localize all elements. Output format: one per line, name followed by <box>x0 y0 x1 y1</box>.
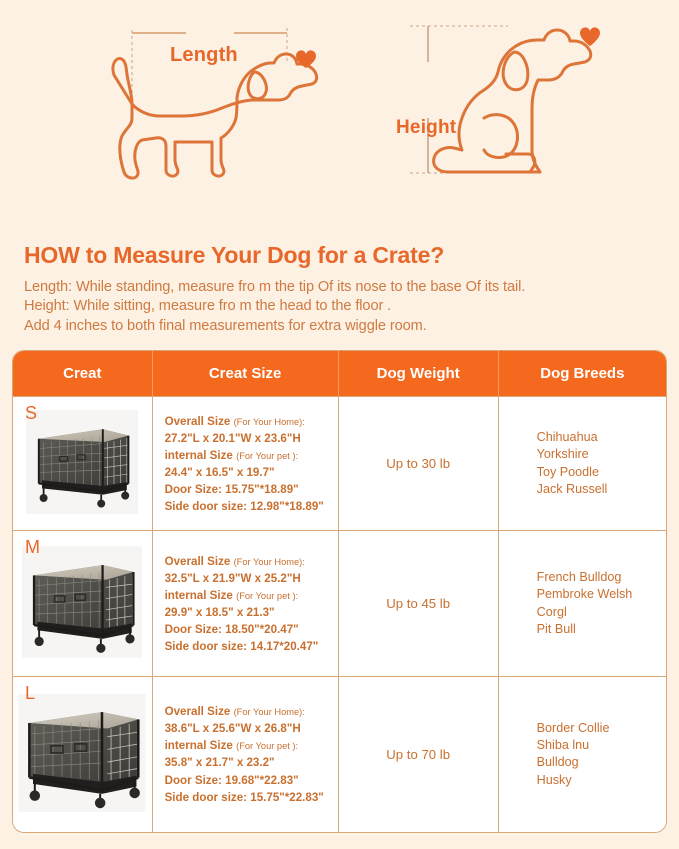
internal-size-value: 24.4" x 16.5" x 19.7" <box>165 466 275 479</box>
breed-item: Border Collie <box>537 720 658 737</box>
breed-item: French Bulldog <box>537 569 658 586</box>
internal-size-note: (For Your pet ): <box>236 451 298 461</box>
breeds-cell-large: Border Collie Shiba lnu Bulldog Husky <box>498 677 666 832</box>
dog-ear-icon <box>248 72 266 99</box>
weight-cell-small: Up to 30 lb <box>338 397 498 531</box>
door-size: Door Size: 18.50"*20.47" <box>165 623 299 636</box>
breed-item: Jack Russell <box>537 481 658 498</box>
breed-item: Pembroke Welsh <box>537 586 658 603</box>
weight-cell-medium: Up to 45 lb <box>338 531 498 677</box>
overall-size-label: Overall Size <box>165 555 231 568</box>
breed-item: Shiba lnu <box>537 737 658 754</box>
dog-crate-medium-photo <box>22 546 142 663</box>
size-cell-medium: Overall Size (For Your Home): 32.5"L x 2… <box>152 531 338 677</box>
overall-size-value: 27.2"L x 20.1"W x 23.6"H <box>165 432 301 445</box>
height-illustration <box>388 0 618 200</box>
table-header-row: Creat Creat Size Dog Weight Dog Breeds <box>13 351 666 397</box>
length-label: Length <box>170 44 238 67</box>
internal-size-value: 29.9" x 18.5" x 21.3" <box>165 606 275 619</box>
dog-paw-icon <box>506 154 535 172</box>
overall-size-label: Overall Size <box>165 415 231 428</box>
page-title: HOW to Measure Your Dog for a Crate? <box>24 242 655 269</box>
dog-ear-icon <box>503 52 528 90</box>
size-letter: M <box>25 537 40 558</box>
dog-crate-small-photo <box>26 410 138 519</box>
internal-size-label: internal Size <box>165 739 233 752</box>
overall-size-note: (For Your Home): <box>234 557 305 567</box>
dog-standing-outline-icon <box>113 54 317 178</box>
column-header-dog-breeds: Dog Breeds <box>498 351 666 397</box>
size-letter: L <box>25 683 35 704</box>
internal-size-note: (For Your pet ): <box>236 741 298 751</box>
breed-item: Husky <box>537 772 658 789</box>
height-label: Height <box>396 117 456 139</box>
overall-size-value: 32.5"L x 21.9"W x 25.2"H <box>165 572 301 585</box>
door-size: Door Size: 19.68"*22.83" <box>165 774 299 787</box>
overall-size-note: (For Your Home): <box>234 707 305 717</box>
side-door-size: Side door size: 12.98"*18.89" <box>165 500 324 513</box>
overall-size-note: (For Your Home): <box>234 417 305 427</box>
internal-size-value: 35.8" x 21.7" x 23.2" <box>165 756 275 769</box>
crate-cell-medium: M <box>13 531 152 677</box>
overall-size-value: 38.6"L x 25.6"W x 26.8"H <box>165 722 301 735</box>
crate-size-table: Creat Creat Size Dog Weight Dog Breeds S <box>12 350 667 833</box>
breed-item: Pit Bull <box>537 621 658 638</box>
internal-size-label: internal Size <box>165 589 233 602</box>
intro-section: HOW to Measure Your Dog for a Crate? Len… <box>0 242 679 336</box>
intro-instructions: Length: While standing, measure fro m th… <box>24 278 655 336</box>
internal-size-label: internal Size <box>165 449 233 462</box>
intro-line-length: Length: While standing, measure fro m th… <box>24 278 655 297</box>
size-cell-large: Overall Size (For Your Home): 38.6"L x 2… <box>152 677 338 832</box>
intro-line-wiggle: Add 4 inches to both final measurements … <box>24 317 655 336</box>
breed-item: Bulldog <box>537 754 658 771</box>
column-header-dog-weight: Dog Weight <box>338 351 498 397</box>
weight-cell-large: Up to 70 lb <box>338 677 498 832</box>
column-header-crate: Creat <box>13 351 152 397</box>
crate-cell-small: S <box>13 397 152 531</box>
side-door-size: Side door size: 14.17*20.47" <box>165 640 319 653</box>
size-cell-small: Overall Size (For Your Home): 27.2"L x 2… <box>152 397 338 531</box>
breeds-cell-small: Chihuahua Yorkshire Toy Poodle Jack Russ… <box>498 397 666 531</box>
table-row: M <box>13 531 666 677</box>
breed-item: Chihuahua <box>537 429 658 446</box>
table-row: L <box>13 677 666 832</box>
dog-haunch-icon <box>484 115 517 158</box>
length-illustration <box>104 0 344 200</box>
breed-item: Toy Poodle <box>537 464 658 481</box>
breed-item: Corgl <box>537 604 658 621</box>
internal-size-note: (For Your pet ): <box>236 591 298 601</box>
table-row: S <box>13 397 666 531</box>
intro-line-height: Height: While sitting, measure fro m the… <box>24 297 655 316</box>
crate-cell-large: L <box>13 677 152 832</box>
side-door-size: Side door size: 15.75"*22.83" <box>165 791 324 804</box>
breed-item: Yorkshire <box>537 446 658 463</box>
column-header-crate-size: Creat Size <box>152 351 338 397</box>
measurement-illustrations: Length Height <box>0 0 679 228</box>
breeds-cell-medium: French Bulldog Pembroke Welsh Corgl Pit … <box>498 531 666 677</box>
dog-crate-large-photo <box>18 694 146 817</box>
door-size: Door Size: 15.75"*18.89" <box>165 483 299 496</box>
size-letter: S <box>25 403 37 424</box>
overall-size-label: Overall Size <box>165 705 231 718</box>
